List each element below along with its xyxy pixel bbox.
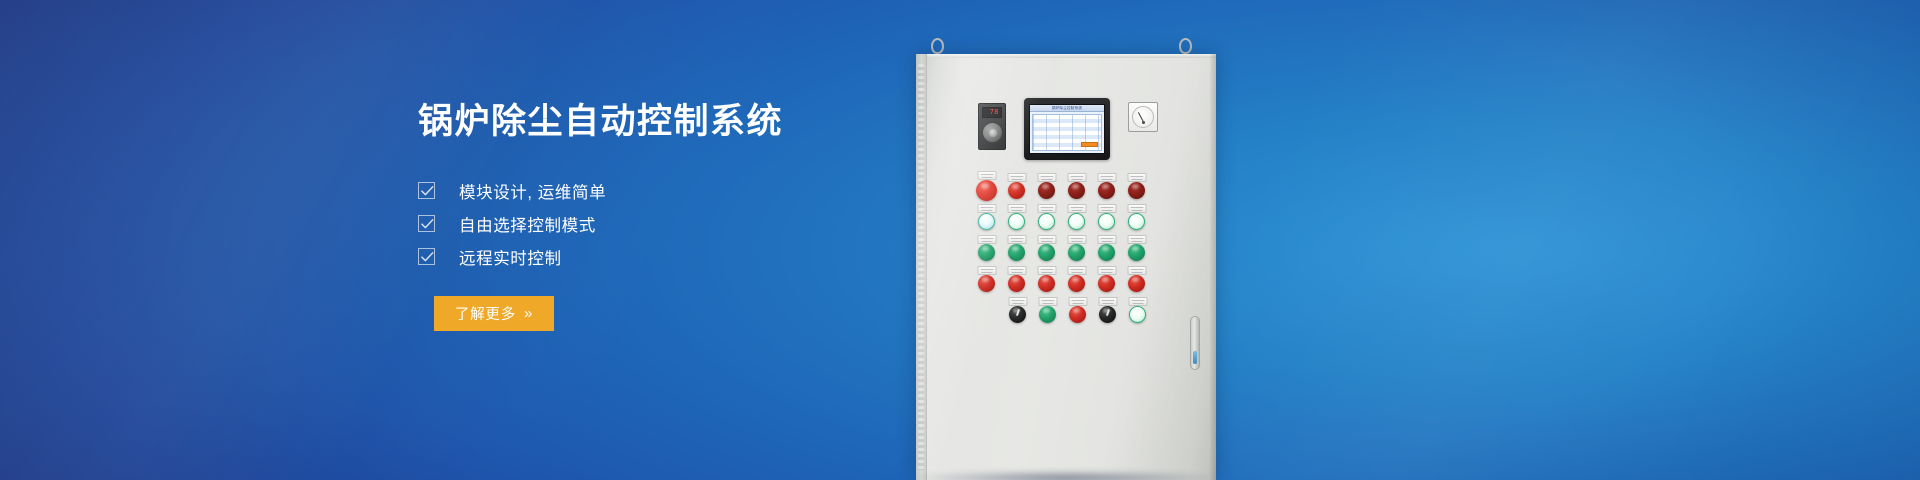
emergency-stop-button-cap	[976, 180, 997, 201]
start-button-1[interactable]	[978, 244, 995, 261]
button-label-tag	[1037, 173, 1056, 182]
checkbox-checked-icon	[418, 215, 435, 232]
lamp-white-7[interactable]	[1129, 306, 1146, 323]
stop-button-1[interactable]	[978, 275, 995, 292]
lamp-white-2-cap	[1008, 213, 1025, 230]
stop-button-6[interactable]	[1128, 275, 1145, 292]
lamp-white-3-cap	[1038, 213, 1055, 230]
start-button-7-cap	[1039, 306, 1056, 323]
start-button-2-cap	[1008, 244, 1025, 261]
lamp-white-6[interactable]	[1128, 213, 1145, 230]
button-label-tag	[1037, 266, 1056, 275]
stop-button-2-cap	[1008, 275, 1025, 292]
stop-button-5-cap	[1098, 275, 1115, 292]
start-button-5[interactable]	[1098, 244, 1115, 261]
lamp-white-4-cap	[1068, 213, 1085, 230]
lamp-white-3[interactable]	[1038, 213, 1055, 230]
indicator-darkred-1[interactable]	[1038, 182, 1055, 199]
button-label-tag	[1097, 235, 1116, 244]
button-label-tag	[1128, 297, 1147, 306]
button-label-tag	[1037, 235, 1056, 244]
stop-button-4[interactable]	[1068, 275, 1085, 292]
indicator-darkred-2[interactable]	[1068, 182, 1085, 199]
selector-switch-2[interactable]	[1099, 306, 1116, 323]
indicator-darkred-3[interactable]	[1098, 182, 1115, 199]
start-button-6[interactable]	[1128, 244, 1145, 261]
checkbox-checked-icon	[418, 248, 435, 265]
feature-label: 远程实时控制	[459, 245, 562, 269]
learn-more-label: 了解更多	[455, 303, 516, 324]
stop-button-3-cap	[1038, 275, 1055, 292]
control-cabinet-image: 78 锅炉除尘控制系统	[900, 0, 1320, 480]
start-button-4[interactable]	[1068, 244, 1085, 261]
button-label-tag	[1097, 173, 1116, 182]
lamp-white-1-cap	[978, 213, 995, 230]
stop-button-5[interactable]	[1098, 275, 1115, 292]
stop-button-4-cap	[1068, 275, 1085, 292]
selector-switch-1-cap	[1009, 306, 1026, 323]
cabinet-drop-shadow	[906, 470, 1226, 480]
cabinet-door-handle[interactable]	[1190, 316, 1200, 370]
button-label-tag	[1097, 266, 1116, 275]
feature-label: 模块设计, 运维简单	[459, 179, 606, 203]
button-label-tag	[1127, 173, 1146, 182]
button-label-tag	[1007, 266, 1026, 275]
list-item: 远程实时控制	[418, 240, 978, 273]
lamp-white-1[interactable]	[978, 213, 995, 230]
start-button-5-cap	[1098, 244, 1115, 261]
indicator-darkred-4-cap	[1128, 182, 1145, 199]
stop-button-7-cap	[1069, 306, 1086, 323]
list-item: 模块设计, 运维简单	[418, 174, 978, 207]
button-label-tag	[1008, 297, 1027, 306]
button-label-tag	[977, 204, 996, 213]
hero-banner: 锅炉除尘自动控制系统 模块设计, 运维简单 自由选择控制模式	[0, 0, 1920, 480]
lamp-white-7-cap	[1129, 306, 1146, 323]
button-label-tag	[1067, 204, 1086, 213]
button-label-tag	[1007, 173, 1026, 182]
list-item: 自由选择控制模式	[418, 207, 978, 240]
feature-list: 模块设计, 运维简单 自由选择控制模式 远程实时控制	[418, 174, 978, 273]
checkbox-checked-icon	[418, 182, 435, 199]
lamp-white-5[interactable]	[1098, 213, 1115, 230]
start-button-2[interactable]	[1008, 244, 1025, 261]
start-button-3[interactable]	[1038, 244, 1055, 261]
button-label-tag	[1037, 204, 1056, 213]
stop-button-1-cap	[978, 275, 995, 292]
stop-button-3[interactable]	[1038, 275, 1055, 292]
stop-button-6-cap	[1128, 275, 1145, 292]
start-button-1-cap	[978, 244, 995, 261]
lamp-white-4[interactable]	[1068, 213, 1085, 230]
lamp-white-6-cap	[1128, 213, 1145, 230]
lifting-eyebolt-left-icon	[931, 38, 944, 54]
stop-button-7[interactable]	[1069, 306, 1086, 323]
button-label-tag	[1038, 297, 1057, 306]
selector-switch-1[interactable]	[1009, 306, 1026, 323]
button-label-tag	[1127, 204, 1146, 213]
start-button-3-cap	[1038, 244, 1055, 261]
start-button-6-cap	[1128, 244, 1145, 261]
button-label-tag	[1067, 266, 1086, 275]
button-label-tag	[977, 235, 996, 244]
button-label-tag	[1127, 235, 1146, 244]
feature-label: 自由选择控制模式	[459, 212, 596, 236]
indicator-darkred-1-cap	[1038, 182, 1055, 199]
learn-more-button[interactable]: 了解更多 »	[434, 296, 554, 331]
button-label-tag	[1067, 173, 1086, 182]
button-label-tag	[1097, 204, 1116, 213]
button-matrix	[916, 54, 1216, 480]
emergency-stop-button[interactable]	[976, 180, 997, 201]
start-button-4-cap	[1068, 244, 1085, 261]
indicator-red-1[interactable]	[1008, 182, 1025, 199]
chevron-right-icon: »	[524, 306, 533, 321]
lamp-white-5-cap	[1098, 213, 1115, 230]
button-label-tag	[1007, 204, 1026, 213]
control-cabinet-body: 78 锅炉除尘控制系统	[916, 54, 1216, 480]
stop-button-2[interactable]	[1008, 275, 1025, 292]
button-label-tag	[1098, 297, 1117, 306]
button-label-tag	[977, 171, 996, 180]
indicator-darkred-4[interactable]	[1128, 182, 1145, 199]
button-label-tag	[1068, 297, 1087, 306]
button-label-tag	[977, 266, 996, 275]
button-label-tag	[1067, 235, 1086, 244]
banner-copy-block: 锅炉除尘自动控制系统 模块设计, 运维简单 自由选择控制模式	[418, 100, 978, 331]
button-label-tag	[1007, 235, 1026, 244]
indicator-red-1-cap	[1008, 182, 1025, 199]
button-label-tag	[1127, 266, 1146, 275]
indicator-darkred-3-cap	[1098, 182, 1115, 199]
indicator-darkred-2-cap	[1068, 182, 1085, 199]
page-title: 锅炉除尘自动控制系统	[418, 100, 978, 144]
start-button-7[interactable]	[1039, 306, 1056, 323]
lamp-white-2[interactable]	[1008, 213, 1025, 230]
lifting-eyebolt-right-icon	[1179, 38, 1192, 54]
selector-switch-2-cap	[1099, 306, 1116, 323]
